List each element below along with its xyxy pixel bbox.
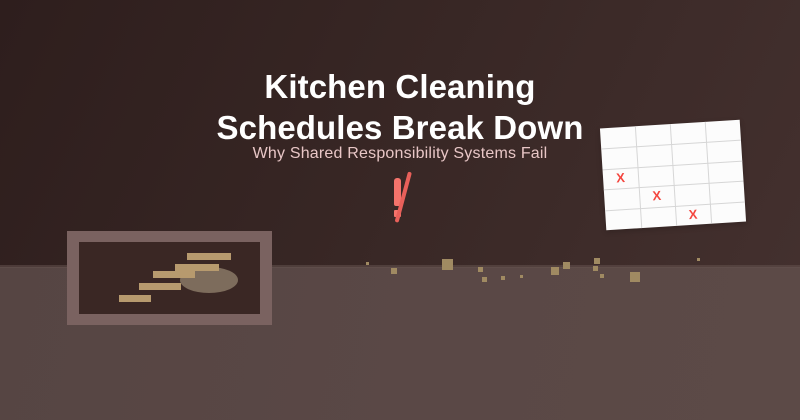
counter-crumb bbox=[391, 268, 397, 274]
stacked-dish bbox=[153, 271, 195, 278]
title-line-1: Kitchen Cleaning bbox=[0, 66, 800, 107]
counter-crumb bbox=[630, 272, 640, 282]
stacked-dish bbox=[119, 295, 151, 302]
stacked-dish bbox=[139, 283, 181, 290]
stacked-dish bbox=[187, 253, 231, 260]
counter-crumb bbox=[697, 258, 700, 261]
counter-crumb bbox=[366, 262, 369, 265]
calendar-missed-mark: X bbox=[687, 208, 700, 221]
calendar-column-divider bbox=[705, 122, 712, 224]
counter-crumb bbox=[478, 267, 483, 272]
counter-crumb bbox=[600, 274, 604, 278]
calendar-column-divider bbox=[670, 124, 677, 226]
promo-banner: Kitchen Cleaning Schedules Break Down Wh… bbox=[0, 0, 800, 420]
alert-exclamation-icon bbox=[386, 174, 430, 228]
calendar-missed-mark: X bbox=[614, 172, 627, 185]
counter-crumb bbox=[442, 259, 453, 270]
calendar-icon: XXX bbox=[600, 120, 746, 231]
counter-crumb bbox=[563, 262, 570, 269]
calendar-missed-mark: X bbox=[650, 190, 663, 203]
sink-basin bbox=[79, 242, 260, 314]
counter-crumb bbox=[501, 276, 505, 280]
counter-crumb bbox=[482, 277, 487, 282]
counter-crumb bbox=[593, 266, 598, 271]
counter-crumb bbox=[551, 267, 559, 275]
counter-crumb bbox=[594, 258, 600, 264]
counter-crumb bbox=[520, 275, 523, 278]
calendar-column-divider bbox=[635, 126, 642, 228]
dirty-dishes-panel bbox=[67, 231, 272, 325]
stacked-dish bbox=[175, 264, 219, 271]
